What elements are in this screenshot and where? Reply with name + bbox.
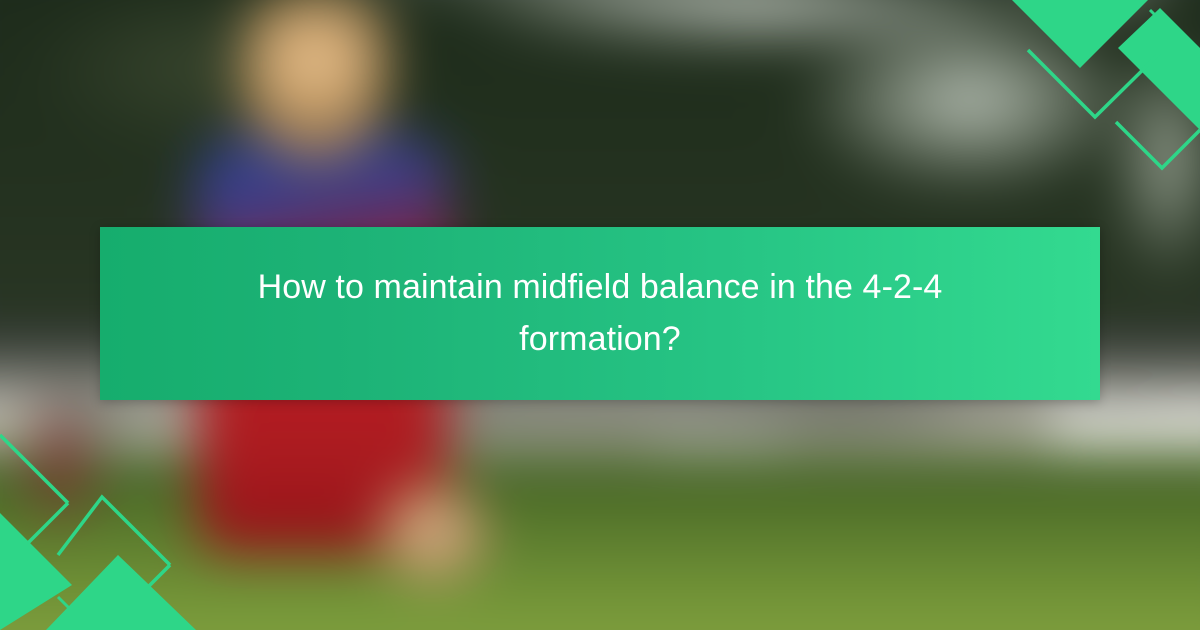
title-banner: How to maintain midfield balance in the …: [100, 227, 1100, 400]
background-grass-pitch: [0, 450, 1200, 630]
share-card: How to maintain midfield balance in the …: [0, 0, 1200, 630]
player-leg: [380, 485, 485, 580]
player-head: [240, 0, 390, 160]
page-title: How to maintain midfield balance in the …: [190, 262, 1010, 365]
